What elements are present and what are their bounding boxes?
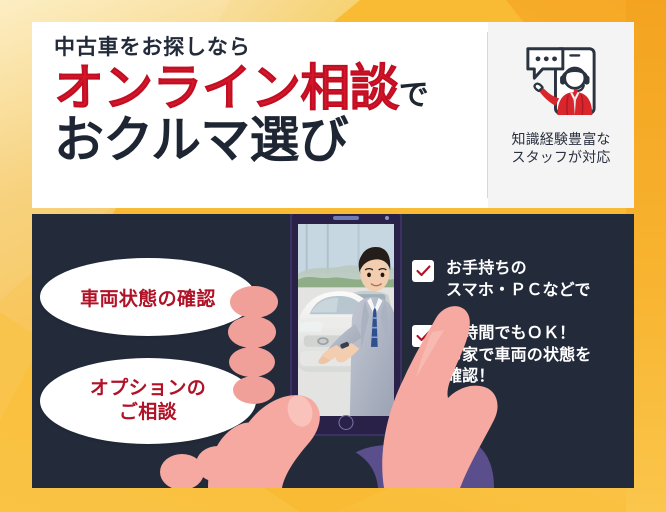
support-caption: 知識経験豊富な スタッフが対応: [512, 130, 611, 167]
headline-red-text: オンライン相談: [54, 63, 399, 113]
headline-panel: 中古車をお探しなら オンライン相談 で おクルマ選び: [32, 22, 634, 208]
headline-line-1: オンライン相談 で: [54, 63, 487, 113]
promo-banner: 中古車をお探しなら オンライン相談 で おクルマ選び: [0, 0, 666, 512]
support-caption-line-1: 知識経験豊富な: [512, 130, 611, 148]
phone-screen: [298, 224, 394, 416]
features-panel: 車両状態の確認 オプションの ご相談 お手持ちの スマホ・ＰＣなどで: [32, 214, 634, 488]
support-caption-line-2: スタッフが対応: [512, 148, 611, 166]
phone-speaker: [333, 216, 359, 220]
kicker-text: 中古車をお探しなら: [54, 36, 487, 59]
phone-home-button: [339, 415, 354, 430]
headline-suffix-text: で: [399, 81, 429, 111]
headline-line-2: おクルマ選び: [54, 115, 487, 165]
headline-column: 中古車をお探しなら オンライン相談 で おクルマ選び: [32, 22, 487, 208]
headset-operator-icon: [515, 34, 607, 126]
smartphone-mockup: [290, 214, 402, 436]
phone-camera: [385, 216, 389, 220]
support-column: 知識経験豊富な スタッフが対応: [488, 22, 634, 208]
